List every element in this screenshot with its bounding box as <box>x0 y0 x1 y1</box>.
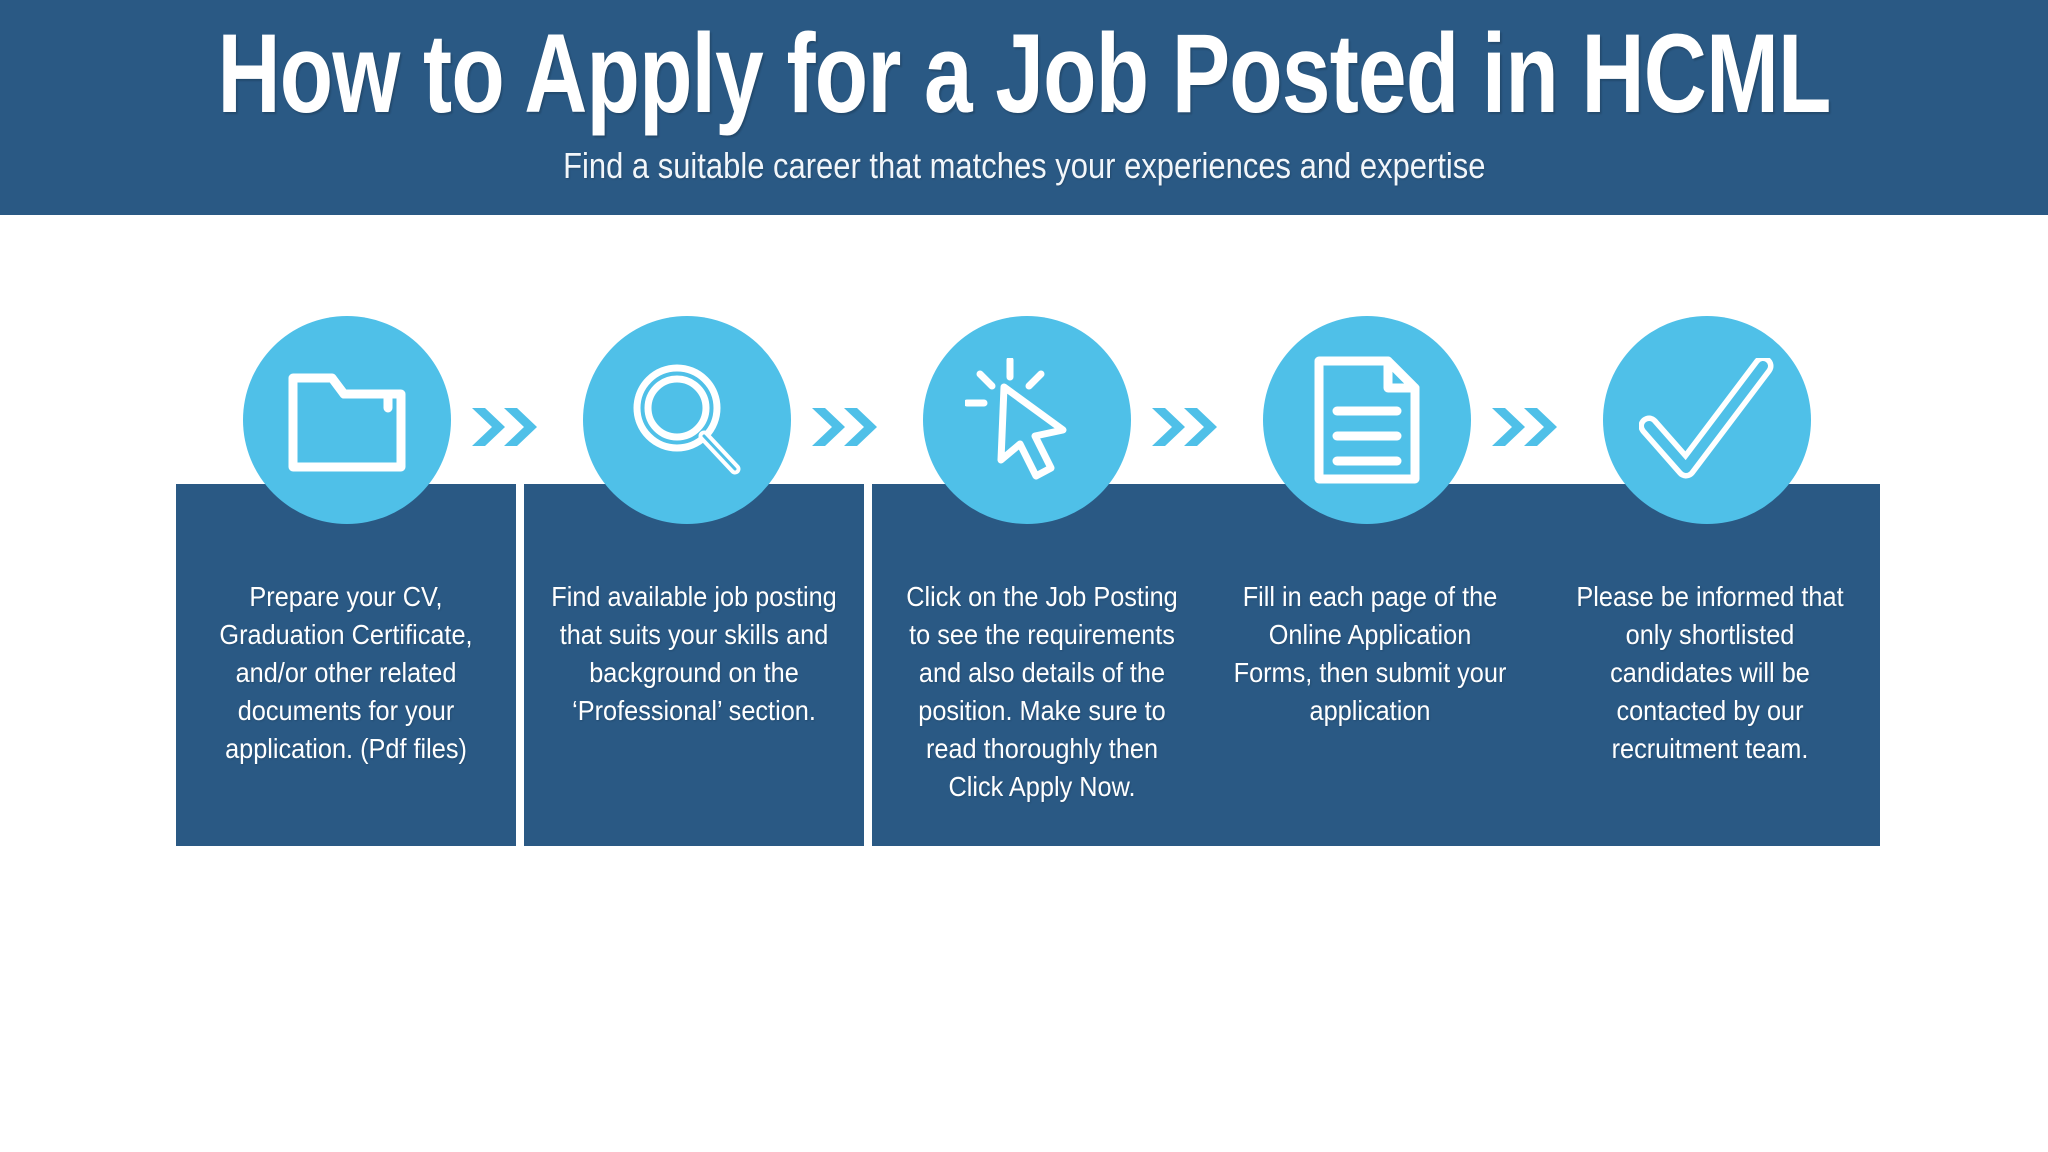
step-card-text: Fill in each page of the Online Applicat… <box>1226 578 1513 730</box>
step-icon-circle-1 <box>243 316 451 524</box>
connector-arrow-3 <box>1146 404 1226 450</box>
page-subtitle: Find a suitable career that matches your… <box>563 144 1485 188</box>
step-card-text: Prepare your CV, Graduation Certificate,… <box>202 578 489 768</box>
step-icon-circle-2 <box>583 316 791 524</box>
double-chevron-right-icon <box>470 404 542 450</box>
step-card-2: Find available job posting that suits yo… <box>524 484 864 846</box>
step-card-4: Fill in each page of the Online Applicat… <box>1200 484 1540 846</box>
double-chevron-right-icon <box>1490 404 1562 450</box>
document-icon <box>1314 356 1420 484</box>
step-card-text: Please be informed that only shortlisted… <box>1566 578 1853 768</box>
click-cursor-icon <box>965 358 1089 482</box>
step-card-1: Prepare your CV, Graduation Certificate,… <box>176 484 516 846</box>
folder-icon <box>288 368 406 472</box>
checkmark-icon <box>1639 358 1775 482</box>
connector-arrow-4 <box>1486 404 1566 450</box>
step-icon-circle-4 <box>1263 316 1471 524</box>
page-title: How to Apply for a Job Posted in HCML <box>217 8 1830 140</box>
connector-arrow-2 <box>806 404 886 450</box>
step-card-text: Find available job posting that suits yo… <box>550 578 837 730</box>
process-steps: Prepare your CV, Graduation Certificate,… <box>176 316 1880 852</box>
step-icon-circle-3 <box>923 316 1131 524</box>
step-card-text: Click on the Job Posting to see the requ… <box>898 578 1185 806</box>
magnifier-icon <box>628 361 746 479</box>
step-icon-circle-5 <box>1603 316 1811 524</box>
step-card-5: Please be informed that only shortlisted… <box>1540 484 1880 846</box>
connector-arrow-1 <box>466 404 546 450</box>
double-chevron-right-icon <box>810 404 882 450</box>
header-banner: How to Apply for a Job Posted in HCML Fi… <box>0 0 2048 215</box>
step-card-3: Click on the Job Posting to see the requ… <box>872 484 1212 846</box>
double-chevron-right-icon <box>1150 404 1222 450</box>
